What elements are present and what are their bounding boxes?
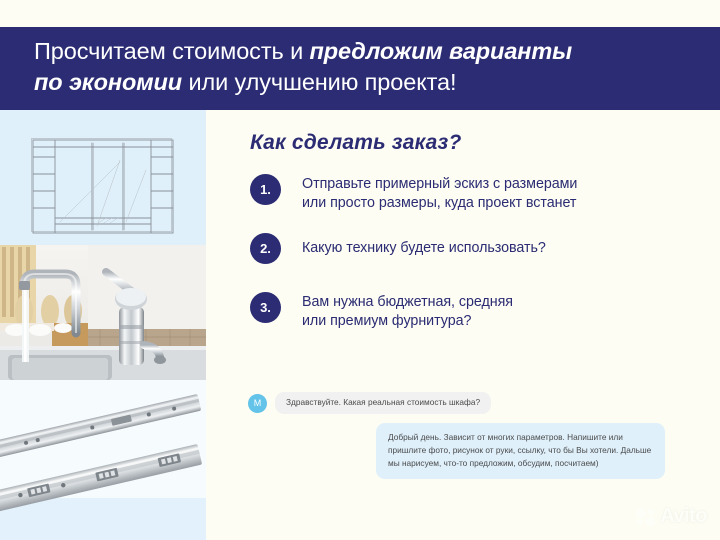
drawer-slides-image <box>0 380 206 540</box>
chat-message-outgoing: Добрый день. Зависит от многих параметро… <box>248 423 718 479</box>
avatar: M <box>248 394 267 413</box>
step-text-3: Вам нужна бюджетная, средняя или премиум… <box>302 290 513 330</box>
chat-message-incoming: M Здравствуйте. Какая реальная стоимость… <box>248 392 718 414</box>
wardrobe-sketch-image <box>0 110 206 245</box>
step-badge-3: 3. <box>250 292 281 323</box>
list-item: 2. Какую технику будете использовать? <box>250 231 712 267</box>
step-badge-1: 1. <box>250 174 281 205</box>
header-banner: Просчитаем стоимость и предложим вариант… <box>0 27 720 110</box>
list-item: 1. Отправьте примерный эскиз с размерами… <box>250 172 712 212</box>
step-text-1: Отправьте примерный эскиз с размерами ил… <box>302 172 577 212</box>
image-column <box>0 110 206 540</box>
banner-line1-plain: Просчитаем стоимость и <box>34 38 310 64</box>
content-panel: Как сделать заказ? 1. Отправьте примерны… <box>206 110 720 540</box>
page-title: Как сделать заказ? <box>250 131 462 155</box>
banner-line1-bold: предложим варианты <box>310 38 573 64</box>
kitchen-faucet-image <box>0 245 206 380</box>
list-item: 3. Вам нужна бюджетная, средняя или прем… <box>250 290 712 330</box>
steps-list: 1. Отправьте примерный эскиз с размерами… <box>250 172 712 349</box>
chat-bubble-incoming: Здравствуйте. Какая реальная стоимость ш… <box>275 392 491 414</box>
chat-thread: M Здравствуйте. Какая реальная стоимость… <box>248 392 718 479</box>
step-badge-2: 2. <box>250 233 281 264</box>
banner-headline: Просчитаем стоимость и предложим вариант… <box>34 36 686 98</box>
step-text-2: Какую технику будете использовать? <box>302 231 546 258</box>
slide-canvas: Просчитаем стоимость и предложим вариант… <box>0 0 720 540</box>
chat-bubble-outgoing: Добрый день. Зависит от многих параметро… <box>376 423 665 479</box>
banner-line2-plain: или улучшению проекта! <box>182 69 456 95</box>
banner-line2-bold: по экономии <box>34 69 182 95</box>
